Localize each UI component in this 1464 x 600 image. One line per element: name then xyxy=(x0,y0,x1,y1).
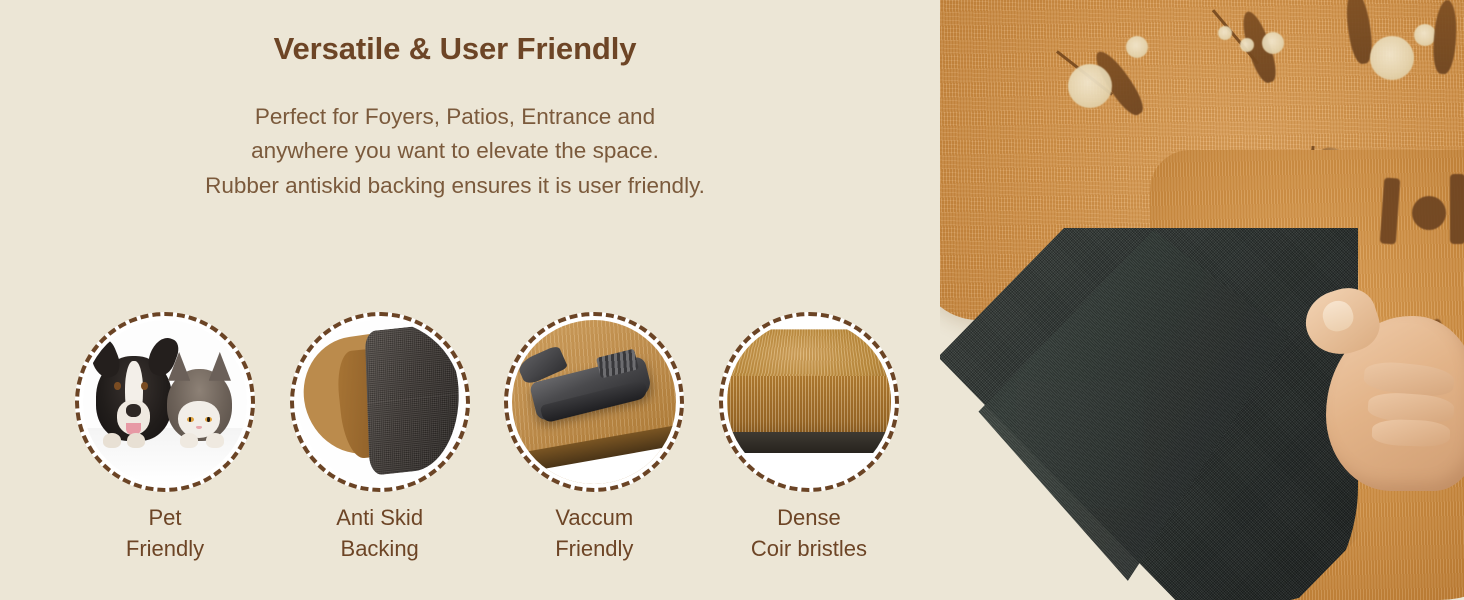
subcopy-line-3: Rubber antiskid backing ensures it is us… xyxy=(0,169,910,203)
feature-label-line-1: Vaccum xyxy=(501,502,687,533)
feature-bubble-dense-coir-bristles xyxy=(719,312,899,492)
feature-bubble-vaccum-friendly xyxy=(504,312,684,492)
feature-item-vaccum-friendly: Vaccum Friendly xyxy=(501,312,687,564)
feature-bubble-pet-friendly xyxy=(75,312,255,492)
feature-label-line-1: Dense xyxy=(716,502,902,533)
product-photo xyxy=(900,0,1464,600)
subcopy-line-2: anywhere you want to elevate the space. xyxy=(0,134,910,168)
feature-label-dense-coir-bristles: Dense Coir bristles xyxy=(716,502,902,564)
feature-label-line-1: Pet xyxy=(72,502,258,533)
feature-bubble-anti-skid-backing xyxy=(290,312,470,492)
feature-list: Pet Friendly Anti Skid Backing xyxy=(72,312,902,564)
rolled-mat-rubber-backing-photo-icon xyxy=(298,320,462,484)
photo-background-left-edge xyxy=(900,0,940,600)
feature-item-dense-coir-bristles: Dense Coir bristles xyxy=(716,312,902,564)
hand-lifting-mat xyxy=(1298,268,1464,498)
subcopy-line-1: Perfect for Foyers, Patios, Entrance and xyxy=(0,100,910,134)
feature-label-line-2: Backing xyxy=(287,533,473,564)
feature-label-pet-friendly: Pet Friendly xyxy=(72,502,258,564)
vacuum-cleaner-head-on-mat-photo-icon xyxy=(512,320,676,484)
feature-label-line-2: Friendly xyxy=(501,533,687,564)
feature-label-anti-skid-backing: Anti Skid Backing xyxy=(287,502,473,564)
feature-label-line-1: Anti Skid xyxy=(287,502,473,533)
feature-label-line-2: Coir bristles xyxy=(716,533,902,564)
feature-label-vaccum-friendly: Vaccum Friendly xyxy=(501,502,687,564)
feature-label-line-2: Friendly xyxy=(72,533,258,564)
copy-block: Versatile & User Friendly Perfect for Fo… xyxy=(0,0,910,203)
product-feature-banner: Versatile & User Friendly Perfect for Fo… xyxy=(0,0,1464,600)
feature-item-anti-skid-backing: Anti Skid Backing xyxy=(287,312,473,564)
dog-and-cat-photo-icon xyxy=(83,320,247,484)
feature-item-pet-friendly: Pet Friendly xyxy=(72,312,258,564)
coir-bristle-closeup-photo-icon xyxy=(727,320,891,484)
page-title: Versatile & User Friendly xyxy=(0,30,910,67)
subcopy-paragraph: Perfect for Foyers, Patios, Entrance and… xyxy=(0,100,910,203)
